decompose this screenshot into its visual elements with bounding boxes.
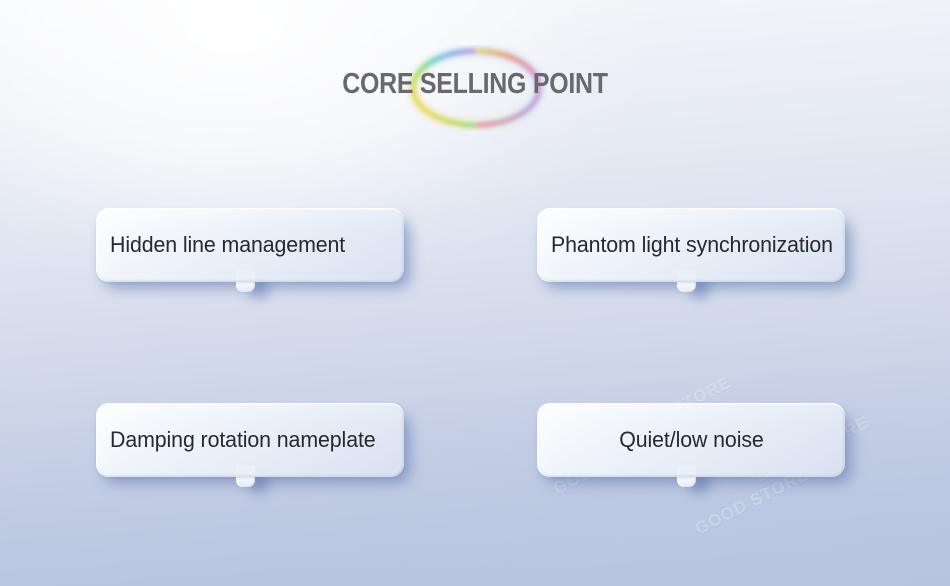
feature-card-body[interactable]: Damping rotation nameplate [96, 403, 404, 477]
page-title: CORE SELLING POINT [67, 69, 884, 99]
feature-card-label: Quiet/low noise [619, 427, 763, 453]
page-header: CORE SELLING POINT [0, 40, 950, 135]
feature-card-label: Hidden line management [110, 232, 345, 258]
feature-card-body[interactable]: Phantom light synchronization [537, 208, 845, 282]
feature-card-body[interactable]: Hidden line management [96, 208, 404, 282]
feature-card-body[interactable]: Quiet/low noise [537, 403, 845, 477]
feature-highlight-panel: GOOD STORE GOOD STORE GOOD STORE GOOD ST… [0, 0, 950, 586]
feature-card[interactable]: Quiet/low noise [537, 403, 847, 495]
feature-card[interactable]: Hidden line management [96, 208, 406, 300]
feature-card[interactable]: Phantom light synchronization [537, 208, 847, 300]
feature-card[interactable]: Damping rotation nameplate [96, 403, 406, 495]
feature-card-label: Damping rotation nameplate [110, 427, 376, 453]
feature-card-label: Phantom light synchronization [551, 232, 833, 258]
